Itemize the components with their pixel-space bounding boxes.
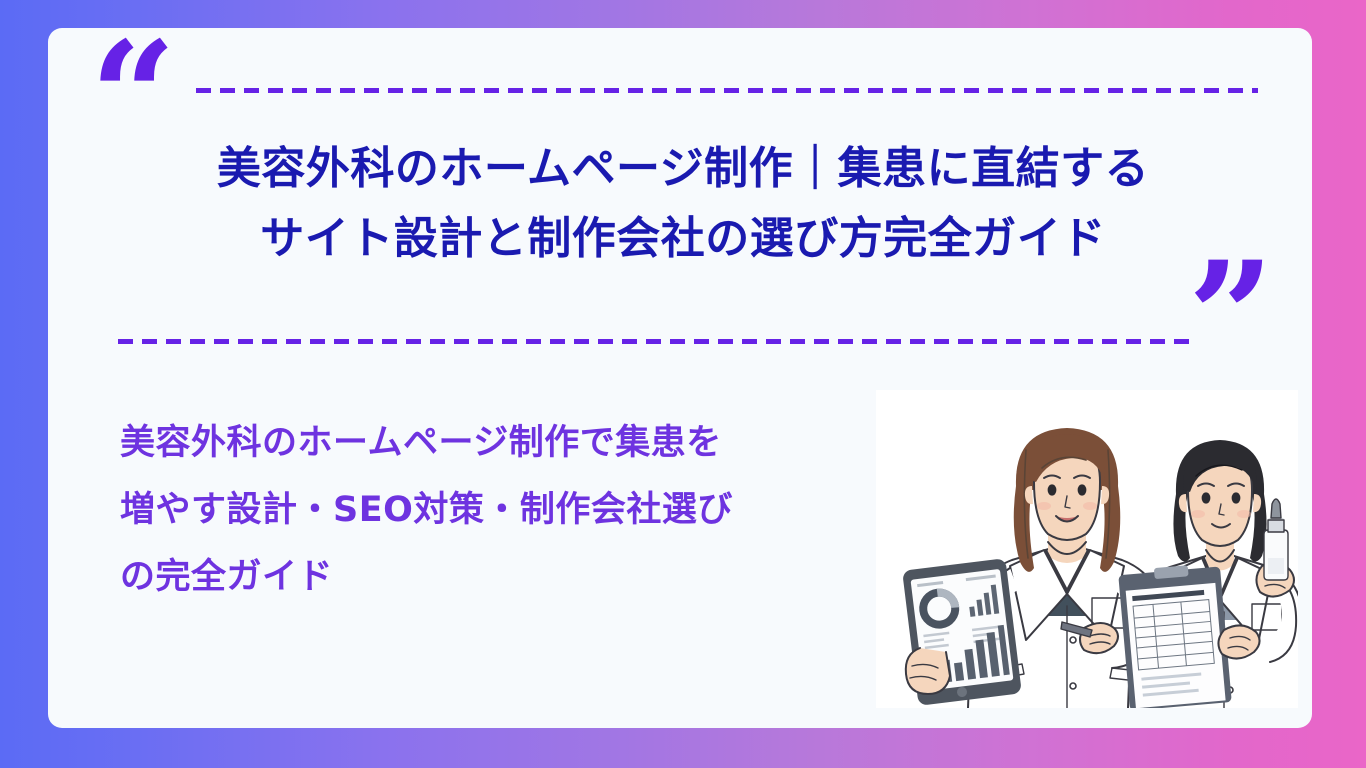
top-dashed-divider [196, 88, 1258, 93]
bottom-dashed-divider [118, 339, 1190, 344]
page-title: 美容外科のホームページ制作｜集患に直結する サイト設計と制作会社の選び方完全ガイ… [88, 134, 1278, 274]
medical-staff-illustration: .ln{fill:none;stroke:#3a3a42;stroke-widt… [876, 390, 1298, 708]
summary-line-1: 美容外科のホームページ制作で集患を [120, 410, 890, 477]
summary-line-2: 増やす設計・SEO対策・制作会社選び [120, 477, 890, 544]
clipboard [1118, 562, 1232, 708]
quote-card: “ ” 美容外科のホームページ制作｜集患に直結する サイト設計と制作会社の選び方… [48, 28, 1312, 728]
title-line-2: サイト設計と制作会社の選び方完全ガイド [88, 204, 1278, 274]
summary-text: 美容外科のホームページ制作で集患を 増やす設計・SEO対策・制作会社選び の完全… [120, 410, 890, 611]
title-line-1: 美容外科のホームページ制作｜集患に直結する [88, 134, 1278, 204]
summary-line-3: の完全ガイド [120, 544, 890, 611]
